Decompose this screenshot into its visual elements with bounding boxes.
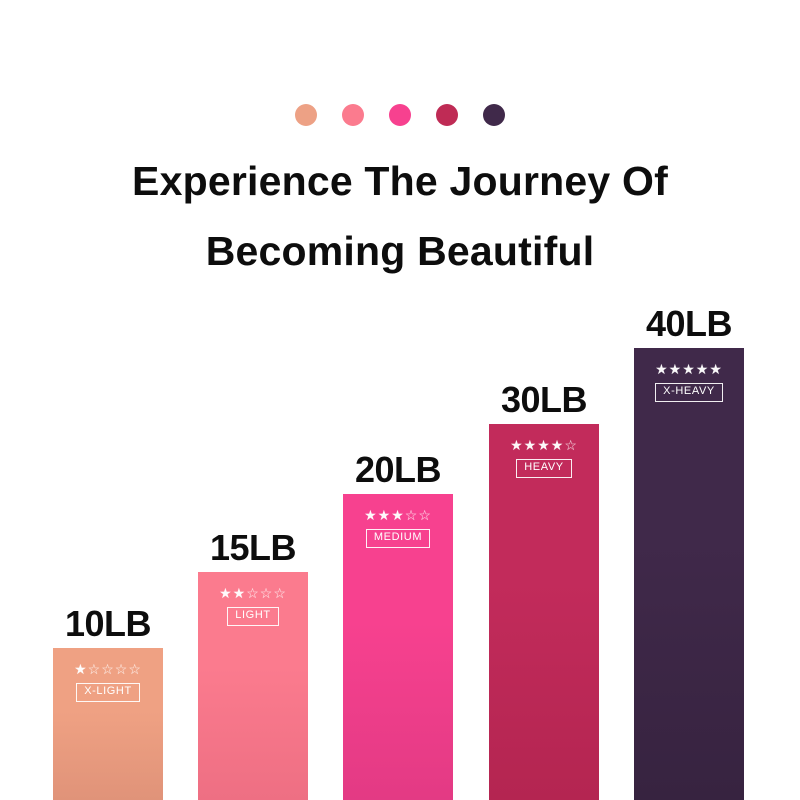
star-filled-icon: ★ [378, 507, 392, 523]
tier-badge-medium: MEDIUM [366, 529, 430, 548]
bar-value-label-30lb: 30LB [501, 382, 587, 418]
bar-value-label-10lb: 10LB [65, 606, 151, 642]
star-outline-icon: ☆ [101, 661, 115, 677]
bar-group-15lb[interactable]: 15LB★★☆☆☆LIGHT [198, 572, 308, 800]
tier-badge-light: LIGHT [227, 607, 278, 626]
bar-group-20lb[interactable]: 20LB★★★☆☆MEDIUM [343, 494, 453, 800]
bar-group-30lb[interactable]: 30LB★★★★☆HEAVY [489, 424, 599, 800]
bar-15lb[interactable]: ★★☆☆☆LIGHT [198, 572, 308, 800]
bar-group-10lb[interactable]: 10LB★☆☆☆☆X-LIGHT [53, 648, 163, 800]
poster-canvas: Experience The Journey Of Becoming Beaut… [0, 0, 800, 800]
star-filled-icon: ★ [537, 437, 551, 453]
star-filled-icon: ★ [524, 437, 538, 453]
tier-badge-x-heavy: X-HEAVY [655, 383, 723, 402]
star-outline-icon: ☆ [405, 507, 419, 523]
star-filled-icon: ★ [551, 437, 565, 453]
bar-value-label-40lb: 40LB [646, 306, 732, 342]
star-rating-10lb: ★☆☆☆☆ [74, 662, 142, 676]
tier-badge-heavy: HEAVY [516, 459, 571, 478]
star-rating-20lb: ★★★☆☆ [364, 508, 432, 522]
star-filled-icon: ★ [219, 585, 233, 601]
star-filled-icon: ★ [74, 661, 88, 677]
star-filled-icon: ★ [682, 361, 696, 377]
star-rating-40lb: ★★★★★ [655, 362, 723, 376]
star-outline-icon: ☆ [246, 585, 260, 601]
bar-10lb[interactable]: ★☆☆☆☆X-LIGHT [53, 648, 163, 800]
star-filled-icon: ★ [696, 361, 710, 377]
resistance-bar-chart: 10LB★☆☆☆☆X-LIGHT15LB★★☆☆☆LIGHT20LB★★★☆☆M… [0, 0, 800, 800]
star-filled-icon: ★ [233, 585, 247, 601]
star-outline-icon: ☆ [128, 661, 142, 677]
bar-30lb[interactable]: ★★★★☆HEAVY [489, 424, 599, 800]
bar-value-label-15lb: 15LB [210, 530, 296, 566]
star-rating-30lb: ★★★★☆ [510, 438, 578, 452]
star-filled-icon: ★ [391, 507, 405, 523]
bar-40lb[interactable]: ★★★★★X-HEAVY [634, 348, 744, 800]
bar-20lb[interactable]: ★★★☆☆MEDIUM [343, 494, 453, 800]
star-outline-icon: ☆ [115, 661, 129, 677]
tier-badge-x-light: X-LIGHT [76, 683, 140, 702]
star-outline-icon: ☆ [273, 585, 287, 601]
star-outline-icon: ☆ [418, 507, 432, 523]
star-filled-icon: ★ [669, 361, 683, 377]
star-filled-icon: ★ [655, 361, 669, 377]
star-outline-icon: ☆ [564, 437, 578, 453]
star-outline-icon: ☆ [260, 585, 274, 601]
star-filled-icon: ★ [709, 361, 723, 377]
bar-value-label-20lb: 20LB [355, 452, 441, 488]
star-outline-icon: ☆ [88, 661, 102, 677]
bar-group-40lb[interactable]: 40LB★★★★★X-HEAVY [634, 348, 744, 800]
star-filled-icon: ★ [510, 437, 524, 453]
star-rating-15lb: ★★☆☆☆ [219, 586, 287, 600]
star-filled-icon: ★ [364, 507, 378, 523]
